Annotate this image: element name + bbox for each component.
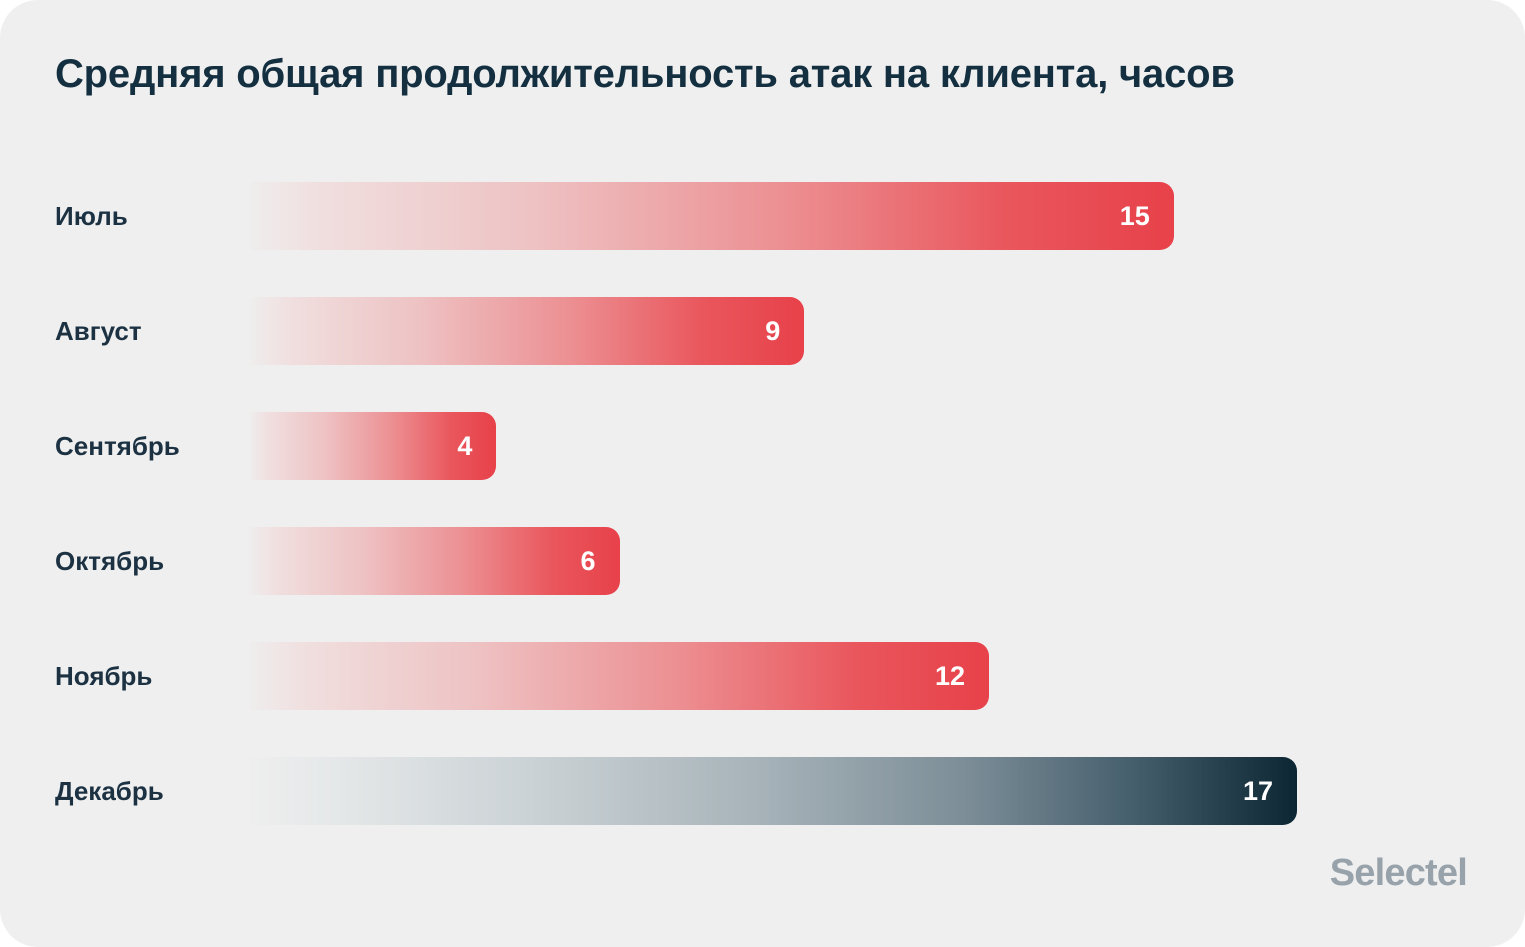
bar-value-label: 15 xyxy=(1120,182,1150,250)
bar-value-label: 9 xyxy=(765,297,780,365)
bar-fill: 12 xyxy=(250,642,989,710)
bar-category-label: Июль xyxy=(55,182,128,250)
bar-fill: 9 xyxy=(250,297,804,365)
selectel-logo: Selectel xyxy=(1330,852,1467,895)
bar-category-label: Октябрь xyxy=(55,527,164,595)
bar-category-label: Декабрь xyxy=(55,757,164,825)
bar-value-label: 4 xyxy=(457,412,472,480)
bar-track: 9 xyxy=(250,297,1525,365)
bar-fill: 4 xyxy=(250,412,496,480)
bar-category-label: Август xyxy=(55,297,142,365)
bar-track: 4 xyxy=(250,412,1525,480)
bar-value-label: 17 xyxy=(1243,757,1273,825)
bar-track: 17 xyxy=(250,757,1525,825)
bar-fill: 15 xyxy=(250,182,1174,250)
bar-track: 12 xyxy=(250,642,1525,710)
bar-row: Ноябрь 12 xyxy=(0,642,1525,710)
bar-track: 15 xyxy=(250,182,1525,250)
bar-category-label: Ноябрь xyxy=(55,642,152,710)
bar-fill: 6 xyxy=(250,527,620,595)
bar-row: Август 9 xyxy=(0,297,1525,365)
chart-card: Средняя общая продолжительность атак на … xyxy=(0,0,1525,947)
bar-row: Декабрь 17 xyxy=(0,757,1525,825)
bar-chart-plot-area: Июль 15 Август 9 Сентябрь 4 xyxy=(0,182,1525,872)
bar-track: 6 xyxy=(250,527,1525,595)
bar-value-label: 12 xyxy=(935,642,965,710)
bar-row: Октябрь 6 xyxy=(0,527,1525,595)
bar-fill: 17 xyxy=(250,757,1297,825)
bar-category-label: Сентябрь xyxy=(55,412,180,480)
bar-value-label: 6 xyxy=(580,527,595,595)
bar-row: Июль 15 xyxy=(0,182,1525,250)
page-title: Средняя общая продолжительность атак на … xyxy=(55,52,1235,97)
bar-row: Сентябрь 4 xyxy=(0,412,1525,480)
